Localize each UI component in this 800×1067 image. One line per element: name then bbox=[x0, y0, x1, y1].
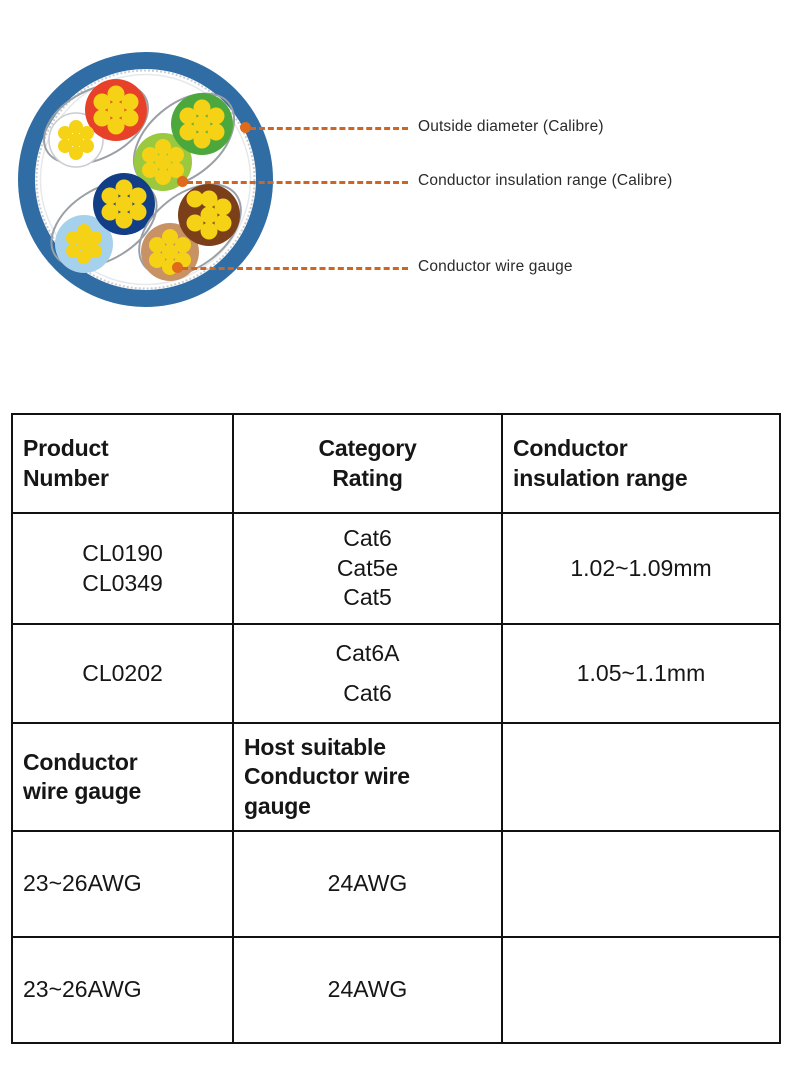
category-cat6a: Cat6A bbox=[244, 639, 491, 668]
cell-category-rating-row2: Cat6A Cat6 bbox=[233, 624, 502, 723]
category-cat5e: Cat5e bbox=[244, 554, 491, 583]
cell-insulation-range-row2: 1.05~1.1mm bbox=[502, 624, 780, 723]
header-category-rating-line2: Rating bbox=[244, 464, 491, 493]
cell-host-suitable-gauge-row3: 24AWG bbox=[233, 831, 502, 937]
header-cell-host-suitable-conductor-wire-gauge: Host suitable Conductor wire gauge bbox=[233, 723, 502, 831]
leader-line-conductor-insulation-range bbox=[187, 181, 408, 184]
category-cat5: Cat5 bbox=[244, 583, 491, 612]
cable-diagram-section: Outside diameter (Calibre) Conductor ins… bbox=[0, 0, 800, 395]
header-cell-empty-row2 bbox=[502, 723, 780, 831]
header-category-rating-line1: Category bbox=[244, 434, 491, 463]
category-cat6: Cat6 bbox=[244, 524, 491, 553]
header-cell-conductor-insulation-range: Conductor insulation range bbox=[502, 414, 780, 513]
leader-line-conductor-wire-gauge bbox=[182, 267, 408, 270]
cell-host-suitable-gauge-row4: 24AWG bbox=[233, 937, 502, 1043]
callout-label-outside-diameter: Outside diameter (Calibre) bbox=[418, 118, 604, 136]
cell-category-rating-row1: Cat6 Cat5e Cat5 bbox=[233, 513, 502, 624]
cell-empty-row4 bbox=[502, 937, 780, 1043]
cell-conductor-wire-gauge-row4: 23~26AWG bbox=[12, 937, 233, 1043]
table-row: CL0190 CL0349 Cat6 Cat5e Cat5 1.02~1.09m… bbox=[12, 513, 780, 624]
product-number-cl0349: CL0349 bbox=[23, 569, 222, 598]
specification-table: Product Number Category Rating Conductor… bbox=[11, 413, 781, 1044]
header-conductor-insulation-line2: insulation range bbox=[513, 464, 769, 493]
header-product-number-line2: Number bbox=[23, 464, 222, 493]
header-conductor-insulation-line1: Conductor bbox=[513, 434, 769, 463]
header-host-suitable-line1: Host suitable bbox=[244, 733, 491, 762]
cell-product-number-row2: CL0202 bbox=[12, 624, 233, 723]
header-conductor-wire-gauge-line1: Conductor bbox=[23, 748, 222, 777]
table-header-row-2: Conductor wire gauge Host suitable Condu… bbox=[12, 723, 780, 831]
header-host-suitable-line3: gauge bbox=[244, 792, 491, 821]
table-row: 23~26AWG 24AWG bbox=[12, 831, 780, 937]
cell-product-number-row1: CL0190 CL0349 bbox=[12, 513, 233, 624]
callout-label-conductor-wire-gauge: Conductor wire gauge bbox=[418, 258, 573, 276]
header-conductor-wire-gauge-line2: wire gauge bbox=[23, 777, 222, 806]
cell-empty-row3 bbox=[502, 831, 780, 937]
callout-label-conductor-insulation-range: Conductor insulation range (Calibre) bbox=[418, 172, 672, 190]
header-product-number-line1: Product bbox=[23, 434, 222, 463]
cell-conductor-wire-gauge-row3: 23~26AWG bbox=[12, 831, 233, 937]
product-number-cl0190: CL0190 bbox=[23, 539, 222, 568]
header-host-suitable-line2: Conductor wire bbox=[244, 762, 491, 791]
table-row: 23~26AWG 24AWG bbox=[12, 937, 780, 1043]
header-cell-category-rating: Category Rating bbox=[233, 414, 502, 513]
header-cell-conductor-wire-gauge: Conductor wire gauge bbox=[12, 723, 233, 831]
cell-insulation-range-row1: 1.02~1.09mm bbox=[502, 513, 780, 624]
header-cell-product-number: Product Number bbox=[12, 414, 233, 513]
table-header-row-1: Product Number Category Rating Conductor… bbox=[12, 414, 780, 513]
leader-line-outside-diameter bbox=[250, 127, 408, 130]
table-row: CL0202 Cat6A Cat6 1.05~1.1mm bbox=[12, 624, 780, 723]
category-cat6-row2: Cat6 bbox=[244, 679, 491, 708]
